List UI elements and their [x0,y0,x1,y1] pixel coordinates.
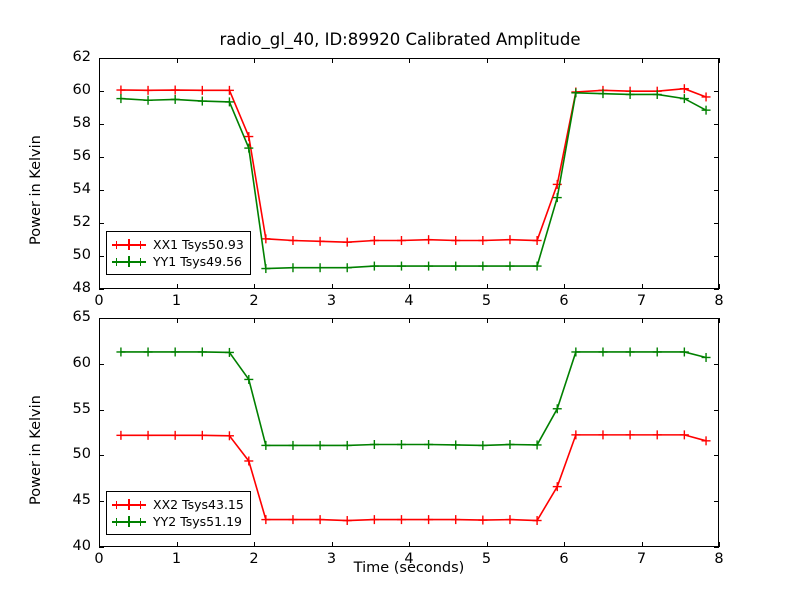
x-tick-mark [177,284,178,289]
legend-item: YY1 Tsys49.56 [112,253,244,270]
x-tick-mark [719,58,720,63]
y-tick-mark [99,289,104,290]
y-tick-mark [99,124,104,125]
y-tick-mark [714,289,719,290]
x-tick-mark [564,318,565,323]
y-axis-label-panel-2: Power in Kelvin [28,395,44,505]
y-tick-label: 55 [51,401,91,417]
y-tick-mark [714,124,719,125]
x-tick-mark [254,318,255,323]
y-tick-mark [714,223,719,224]
y-tick-mark [714,455,719,456]
legend-label: XX2 Tsys43.15 [153,496,244,513]
legend-label: YY2 Tsys51.19 [153,513,242,530]
legend-item: YY2 Tsys51.19 [112,513,244,530]
legend-panel-1: XX1 Tsys50.93 YY1 Tsys49.56 [106,231,251,275]
y-axis-label-panel-1: Power in Kelvin [28,135,44,245]
y-tick-mark [99,223,104,224]
legend-line-marker-icon [112,516,146,527]
x-tick-mark [177,542,178,547]
y-tick-label: 60 [51,355,91,371]
x-tick-mark [254,284,255,289]
y-tick-mark [714,256,719,257]
legend-line-marker-icon [112,499,146,510]
x-tick-label: 1 [157,293,197,309]
x-tick-mark [409,58,410,63]
x-tick-mark [719,542,720,547]
x-tick-mark [332,58,333,63]
y-tick-mark [714,364,719,365]
x-tick-mark [99,542,100,547]
x-tick-mark [99,58,100,63]
y-tick-mark [714,410,719,411]
y-tick-mark [714,157,719,158]
x-tick-mark [254,542,255,547]
x-tick-mark [487,58,488,63]
x-tick-mark [177,58,178,63]
series-markers [116,84,710,246]
x-tick-mark [409,318,410,323]
chart-title: radio_gl_40, ID:89920 Calibrated Amplitu… [0,30,800,49]
x-tick-mark [332,284,333,289]
x-tick-mark [177,318,178,323]
x-tick-mark [642,318,643,323]
x-tick-mark [254,58,255,63]
x-tick-mark [642,58,643,63]
x-tick-label: 6 [544,293,584,309]
x-tick-mark [409,284,410,289]
series-line [121,352,706,445]
legend-line-marker-icon [112,239,146,250]
legend-line-marker-icon [112,256,146,267]
y-tick-mark [714,547,719,548]
y-tick-label: 52 [51,214,91,230]
x-tick-mark [719,284,720,289]
y-tick-mark [99,410,104,411]
legend-item: XX2 Tsys43.15 [112,496,244,513]
y-tick-mark [714,91,719,92]
y-tick-mark [714,501,719,502]
legend-item: XX1 Tsys50.93 [112,236,244,253]
y-tick-mark [99,501,104,502]
y-tick-label: 50 [51,247,91,263]
y-tick-label: 65 [51,309,91,325]
x-tick-mark [642,542,643,547]
y-tick-label: 56 [51,148,91,164]
legend-panel-2: XX2 Tsys43.15 YY2 Tsys51.19 [106,491,251,535]
y-tick-mark [99,455,104,456]
x-axis-label: Time (seconds) [99,560,719,576]
x-tick-label: 2 [234,293,274,309]
x-tick-mark [99,318,100,323]
x-tick-mark [332,542,333,547]
y-tick-label: 45 [51,492,91,508]
y-tick-label: 62 [51,49,91,65]
y-tick-mark [99,547,104,548]
y-tick-label: 54 [51,181,91,197]
x-tick-label: 8 [699,293,739,309]
x-tick-mark [332,318,333,323]
x-tick-mark [564,542,565,547]
x-tick-label: 4 [389,293,429,309]
legend-label: XX1 Tsys50.93 [153,236,244,253]
x-tick-label: 7 [622,293,662,309]
y-tick-mark [99,91,104,92]
x-tick-mark [487,542,488,547]
legend-label: YY1 Tsys49.56 [153,253,242,270]
y-tick-mark [99,364,104,365]
x-tick-mark [409,542,410,547]
series-line [121,89,706,242]
x-tick-mark [719,318,720,323]
x-tick-mark [487,318,488,323]
y-tick-mark [99,190,104,191]
y-tick-mark [714,190,719,191]
x-tick-label: 5 [467,293,507,309]
x-tick-label: 3 [312,293,352,309]
x-tick-mark [487,284,488,289]
y-tick-mark [99,157,104,158]
y-tick-label: 58 [51,115,91,131]
figure: radio_gl_40, ID:89920 Calibrated Amplitu… [0,0,800,600]
x-tick-mark [564,58,565,63]
y-tick-label: 50 [51,446,91,462]
x-tick-mark [564,284,565,289]
y-tick-mark [99,256,104,257]
y-tick-label: 60 [51,82,91,98]
x-tick-mark [99,284,100,289]
x-tick-label: 0 [79,293,119,309]
x-tick-mark [642,284,643,289]
